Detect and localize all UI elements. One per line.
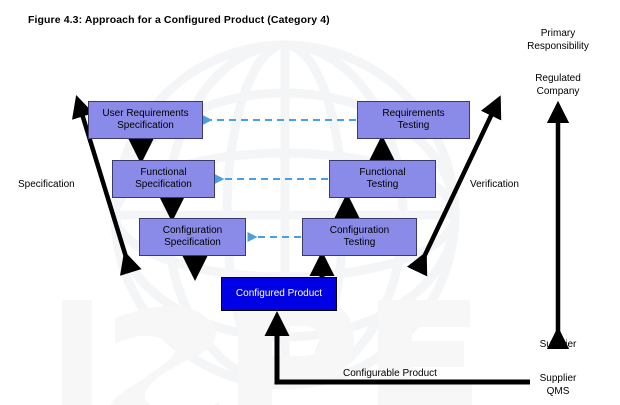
label-line-1: Primary: [541, 28, 575, 39]
label-supplier-qms: Supplier QMS: [509, 373, 607, 398]
label-line-2: QMS: [547, 386, 570, 397]
label-line-2: Responsibility: [527, 41, 589, 52]
label-line-1: Regulated: [535, 73, 581, 84]
box-line-2: Specification: [102, 120, 188, 133]
label-regulated-company: Regulated Company: [509, 73, 607, 98]
box-configured-product[interactable]: Configured Product: [221, 277, 337, 311]
label-specification: Specification: [18, 179, 75, 192]
box-configuration-testing[interactable]: Configuration Testing: [302, 218, 417, 256]
box-line-2: Specification: [163, 237, 222, 250]
box-line-2: Testing: [359, 179, 405, 192]
label-line-2: Company: [537, 86, 580, 97]
box-line-2: Testing: [382, 120, 444, 133]
label-verification: Verification: [470, 179, 519, 192]
label-line-1: Supplier: [540, 373, 577, 384]
box-line-2: Specification: [135, 179, 192, 192]
box-line-1: Functional: [359, 167, 405, 180]
box-functional-testing[interactable]: Functional Testing: [329, 160, 436, 198]
figure-canvas: Figure 4.3: Approach for a Configured Pr…: [0, 0, 620, 405]
box-line-2: Testing: [330, 237, 389, 250]
box-line-1: Functional: [135, 167, 192, 180]
box-line-1: Requirements: [382, 108, 444, 121]
box-line-1: Configured Product: [236, 288, 322, 301]
box-user-requirements-specification[interactable]: User Requirements Specification: [88, 101, 203, 139]
box-configuration-specification[interactable]: Configuration Specification: [139, 218, 246, 256]
box-line-1: User Requirements: [102, 108, 188, 121]
box-functional-specification[interactable]: Functional Specification: [112, 160, 215, 198]
box-line-1: Configuration: [330, 225, 389, 238]
box-line-1: Configuration: [163, 225, 222, 238]
label-supplier: Supplier: [509, 339, 607, 352]
label-primary-responsibility: Primary Responsibility: [509, 28, 607, 53]
label-configurable-product: Configurable Product: [343, 368, 437, 381]
figure-title: Figure 4.3: Approach for a Configured Pr…: [28, 14, 330, 26]
box-requirements-testing[interactable]: Requirements Testing: [357, 101, 470, 139]
